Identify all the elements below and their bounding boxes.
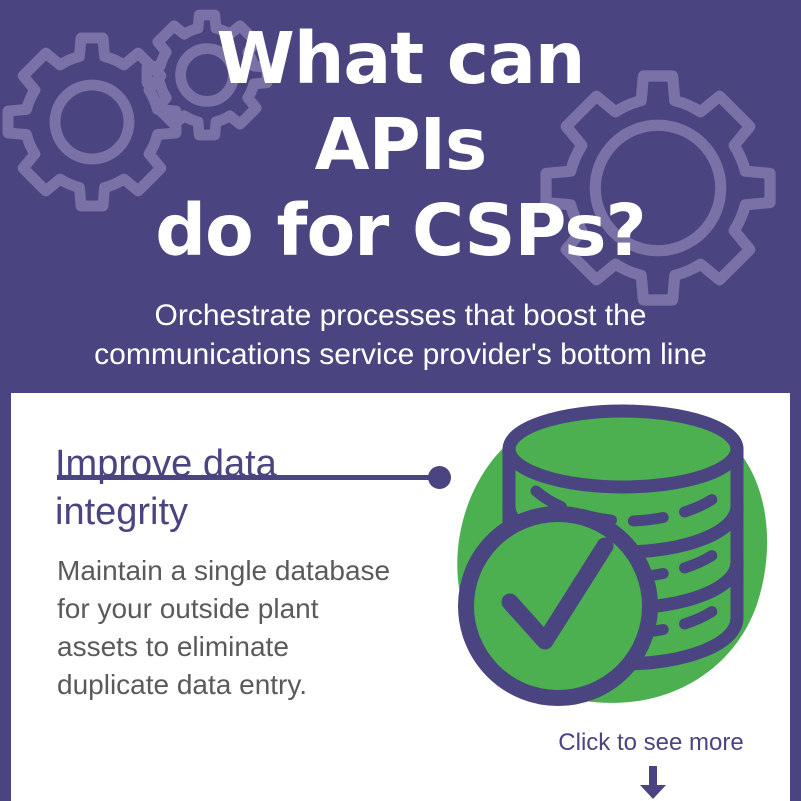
heading-connector-line (57, 475, 437, 480)
subtitle-line-2: communications service provider's bottom… (0, 335, 801, 374)
infographic-root: What can APIs do for CSPs? Orchestrate p… (0, 0, 801, 801)
panel-left-border (0, 393, 11, 801)
card-heading-line-1: Improve data (55, 440, 455, 488)
card-body-text: Maintain a single database for your outs… (57, 552, 437, 704)
card-heading-line-2: integrity (55, 488, 455, 536)
card-heading: Improve data integrity (55, 440, 455, 536)
body-line-4: duplicate data entry. (57, 666, 437, 704)
title-line-3: do for CSPs? (0, 188, 801, 274)
cylinder-top-ellipse (509, 411, 737, 487)
body-line-1: Maintain a single database (57, 552, 437, 590)
body-line-3: assets to eliminate (57, 628, 437, 666)
arrow-down-icon[interactable] (638, 766, 668, 800)
title-line-1: What can (0, 16, 801, 102)
header-title: What can APIs do for CSPs? (0, 16, 801, 274)
cta-label[interactable]: Click to see more (520, 728, 782, 758)
title-line-2: APIs (0, 102, 801, 188)
subtitle-line-1: Orchestrate processes that boost the (0, 296, 801, 335)
header-subtitle: Orchestrate processes that boost the com… (0, 296, 801, 374)
check-mark-badge (466, 514, 650, 698)
cta-block[interactable]: Click to see more (520, 728, 782, 758)
header-banner: What can APIs do for CSPs? Orchestrate p… (0, 0, 801, 393)
database-check-illustration (448, 396, 778, 714)
connector-end-dot (428, 466, 451, 489)
panel-right-border (790, 393, 801, 801)
body-line-2: for your outside plant (57, 590, 437, 628)
